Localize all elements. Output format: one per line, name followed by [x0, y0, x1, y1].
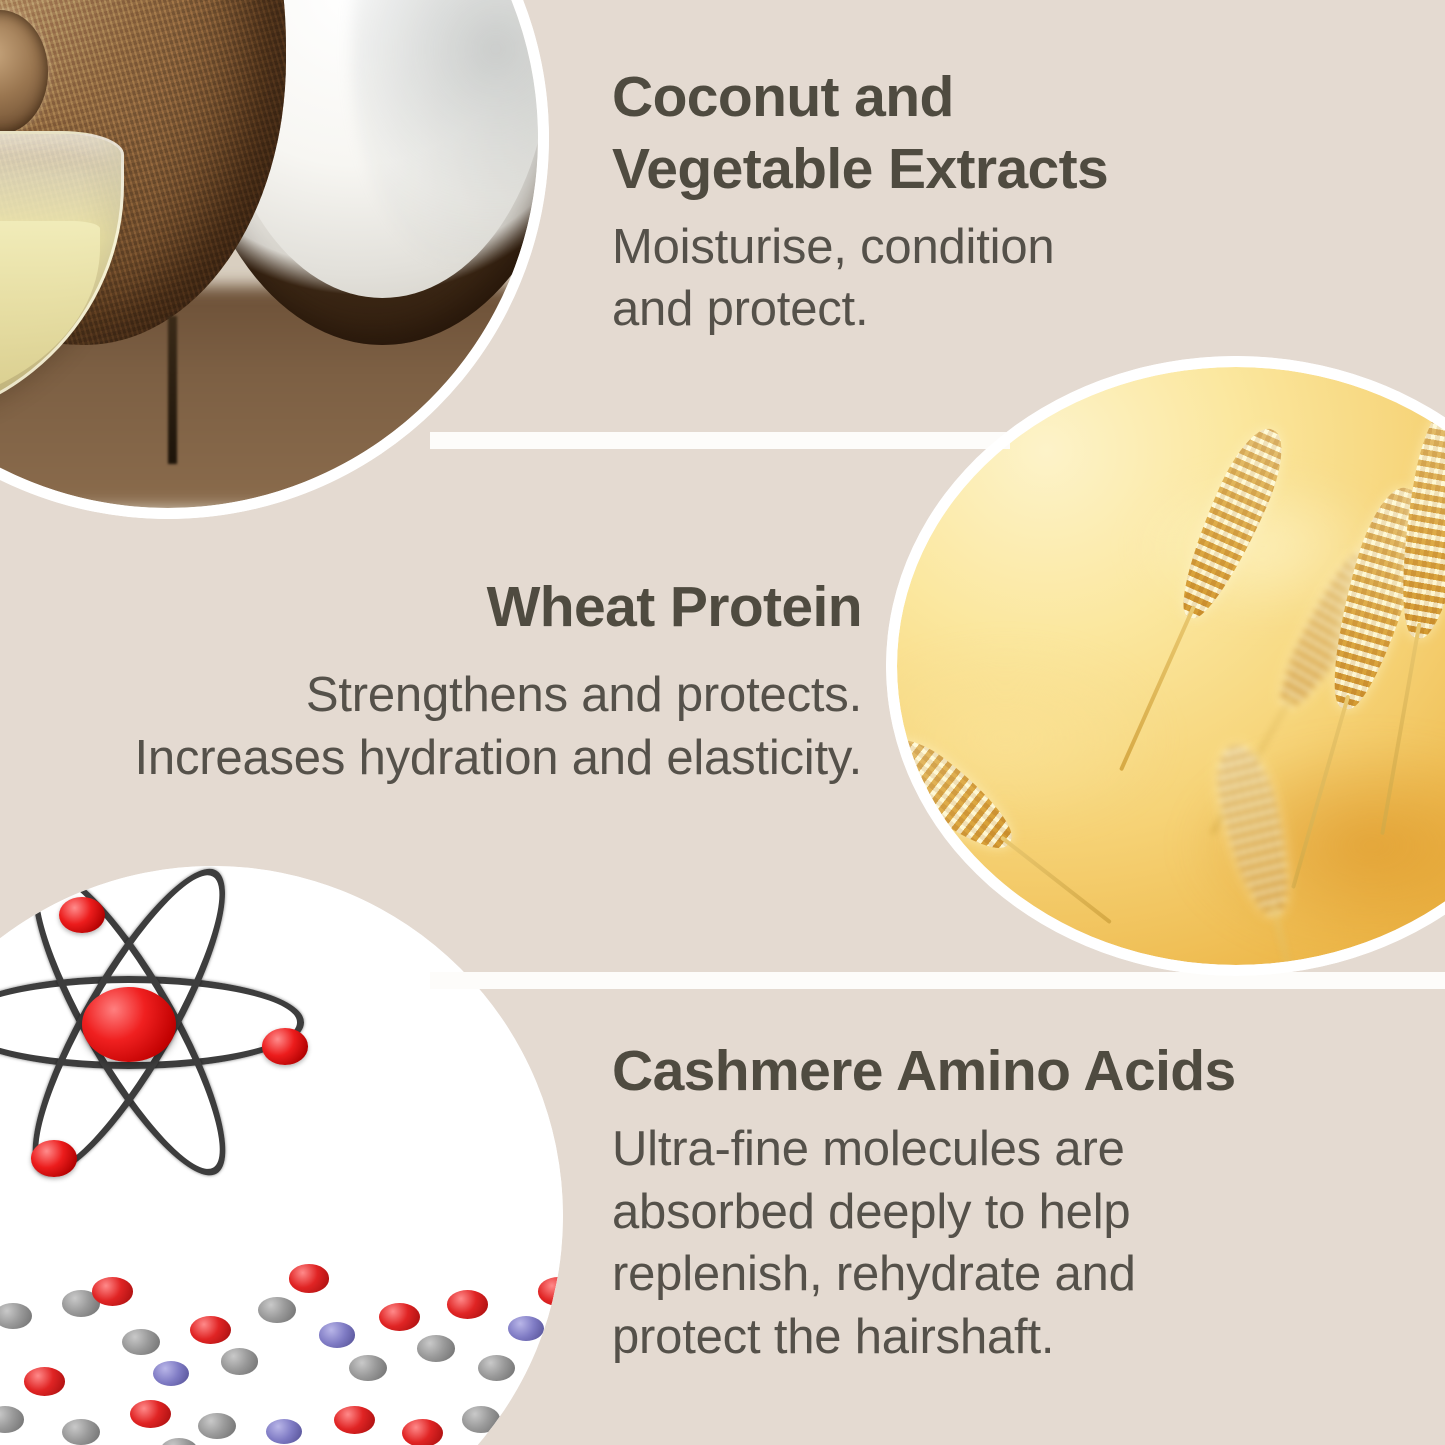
atom-electron [262, 1028, 308, 1064]
title-line: Cashmere Amino Acids [612, 1036, 1236, 1108]
section-cashmere-body: Ultra-fine molecules are absorbed deeply… [612, 1118, 1236, 1369]
body-line: absorbed deeply to help [612, 1181, 1236, 1244]
section-coconut-body: Moisturise, condition and protect. [612, 216, 1108, 341]
section-coconut-text: Coconut and Vegetable Extracts Moisturis… [612, 62, 1108, 341]
atom-electron [31, 1140, 77, 1176]
title-line: Wheat Protein [0, 572, 862, 644]
body-line: Ultra-fine molecules are [612, 1118, 1236, 1181]
title-line: Coconut and [612, 62, 1108, 134]
section-wheat-title: Wheat Protein [0, 572, 862, 644]
divider-top [430, 432, 1010, 449]
body-line: Increases hydration and elasticity. [0, 727, 862, 790]
atom-and-molecule-art [0, 866, 563, 1445]
wheat-photo [886, 356, 1445, 976]
body-line: Moisturise, condition [612, 216, 1108, 279]
atom-icon [0, 894, 304, 1174]
section-wheat-text: Wheat Protein Strengthens and protects. … [0, 572, 862, 789]
coconut-stem-shadow [168, 316, 177, 464]
body-line: Strengthens and protects. [0, 664, 862, 727]
body-line: and protect. [612, 278, 1108, 341]
infographic-canvas: Coconut and Vegetable Extracts Moisturis… [0, 0, 1445, 1445]
atom-electron [59, 897, 105, 933]
wheat-illustration [897, 367, 1445, 965]
molecule-illustration-inner [0, 866, 563, 1445]
wheat-photo-inner [897, 367, 1445, 965]
body-line: protect the hairshaft. [612, 1306, 1236, 1369]
divider-bottom [430, 972, 1445, 989]
molecule-illustration [0, 866, 563, 1445]
section-coconut-title: Coconut and Vegetable Extracts [612, 62, 1108, 206]
molecular-model-chain [0, 1258, 563, 1445]
title-line: Vegetable Extracts [612, 134, 1108, 206]
atom-nucleus [82, 987, 177, 1063]
body-line: replenish, rehydrate and [612, 1243, 1236, 1306]
section-cashmere-title: Cashmere Amino Acids [612, 1036, 1236, 1108]
section-wheat-body: Strengthens and protects. Increases hydr… [0, 664, 862, 789]
section-cashmere-text: Cashmere Amino Acids Ultra-fine molecule… [612, 1036, 1236, 1369]
